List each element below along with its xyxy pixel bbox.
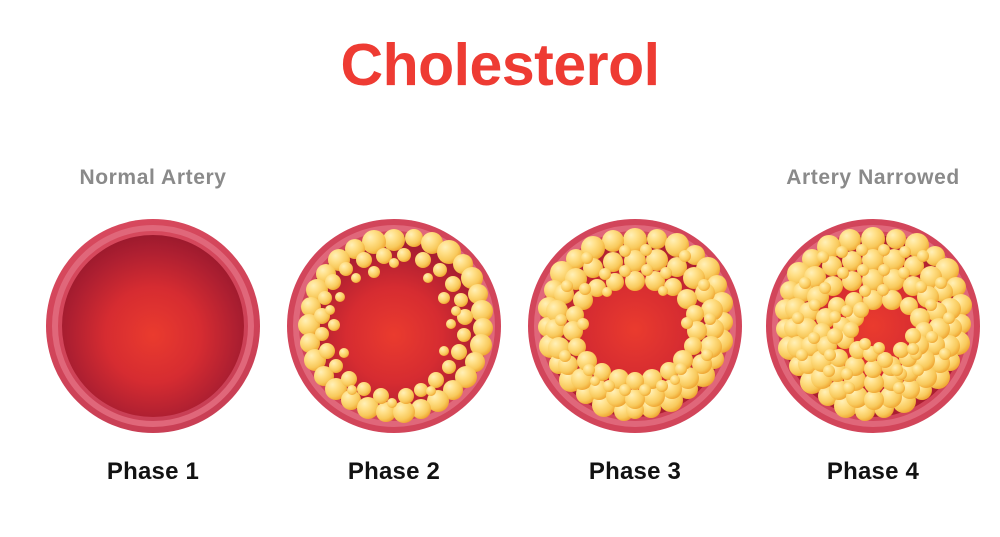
artery-diagram-phase-3: [527, 218, 743, 434]
annotation-normal-artery: Normal Artery: [3, 166, 303, 190]
phase-label-2: Phase 2: [274, 458, 514, 486]
artery-lumen: [62, 235, 244, 417]
phase-label-4: Phase 4: [753, 458, 993, 486]
artery-diagram-phase-1: [45, 218, 261, 434]
artery-diagram-phase-2: [286, 218, 502, 434]
infographic-canvas: Cholesterol Normal Artery Artery Narrowe…: [0, 0, 1000, 537]
annotation-artery-narrowed: Artery Narrowed: [723, 166, 1000, 190]
phase-label-1: Phase 1: [33, 458, 273, 486]
page-title: Cholesterol: [0, 36, 1000, 95]
artery-diagram-phase-4: [765, 218, 981, 434]
phase-label-3: Phase 3: [515, 458, 755, 486]
